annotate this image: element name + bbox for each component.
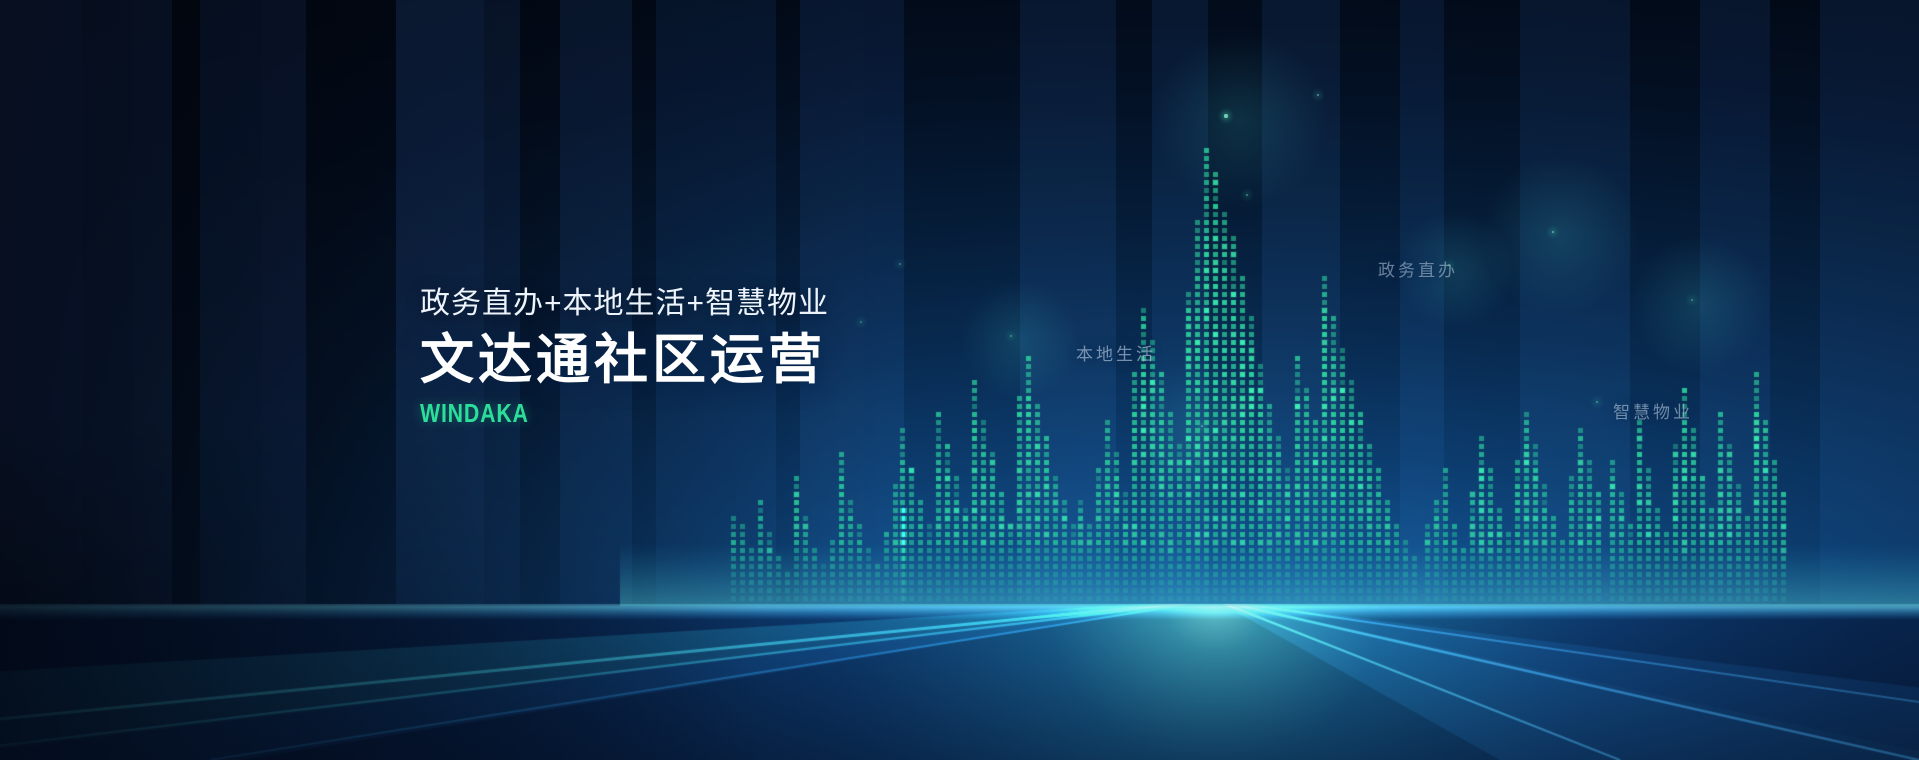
hero-text-block: 政务直办+本地生活+智慧物业 文达通社区运营 WINDAKA xyxy=(420,288,829,429)
hero-subtitle: 政务直办+本地生活+智慧物业 xyxy=(420,288,829,320)
particle-dot xyxy=(899,263,901,265)
skyline-label-2: 政务直办 xyxy=(1378,256,1458,281)
particle-dot xyxy=(1224,114,1227,117)
particle-dot xyxy=(1246,194,1248,196)
brand-wordmark: WINDAKA xyxy=(420,398,755,429)
particle-dot xyxy=(860,321,862,323)
banner-stage: 本地生活政务直办智慧物业 政务直办+本地生活+智慧物业 文达通社区运营 WIND… xyxy=(0,0,1919,760)
page-title: 文达通社区运营 xyxy=(420,331,829,389)
skyline-label-1: 本地生活 xyxy=(1076,340,1156,365)
skyline-label-3: 智慧物业 xyxy=(1613,398,1693,423)
particle-dot xyxy=(1596,401,1598,403)
perspective-floor xyxy=(0,0,1919,760)
